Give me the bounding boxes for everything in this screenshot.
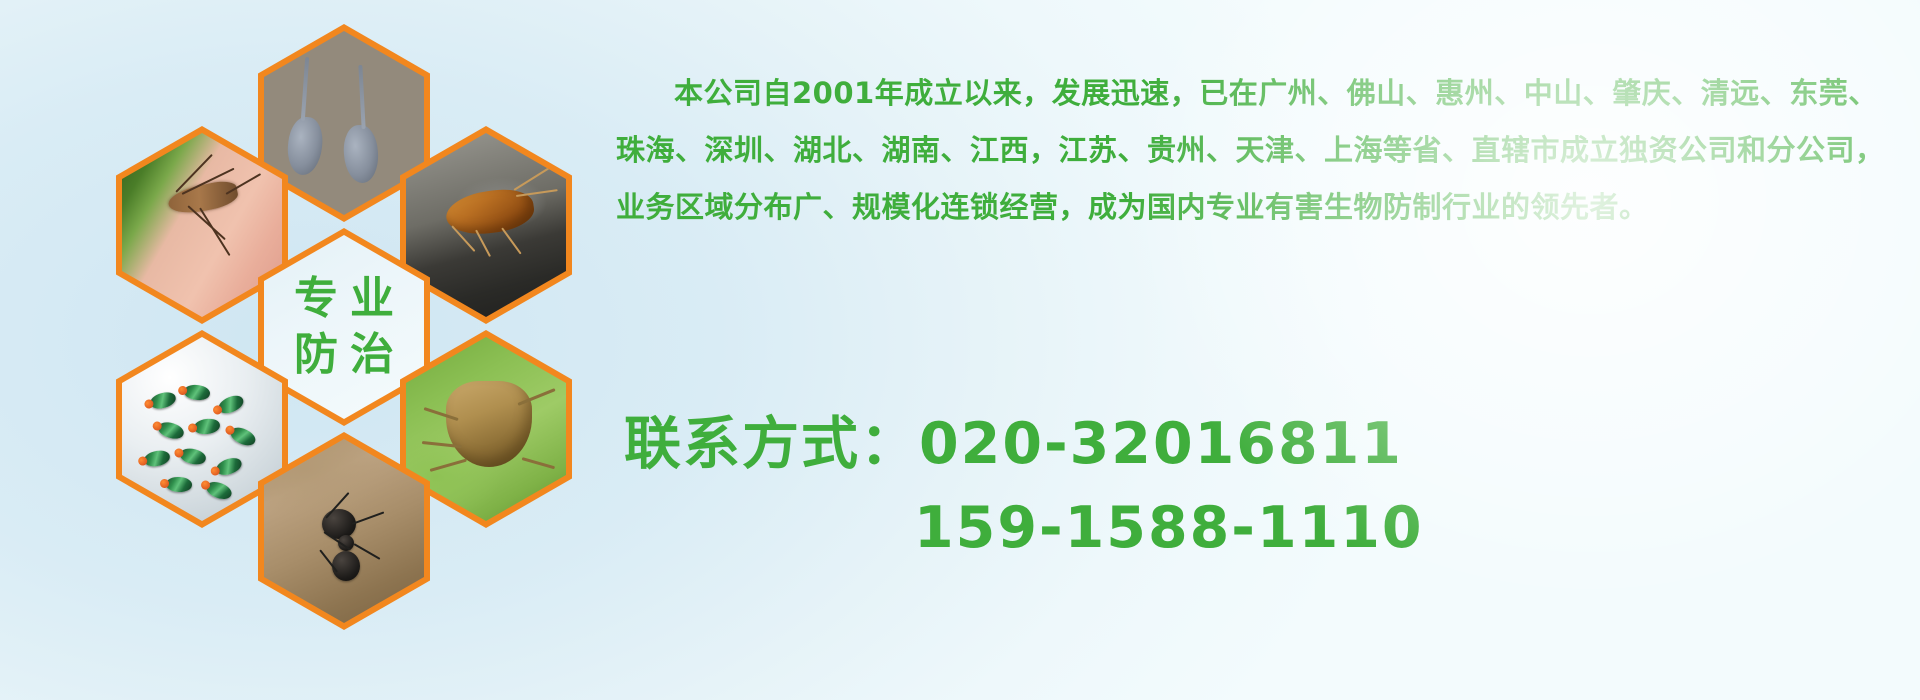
logo-line-2: 防治 [282, 332, 406, 378]
ant-photo-icon [264, 439, 424, 623]
contact-line-mobile[interactable]: 159-1588-1110 [624, 486, 1724, 570]
company-intro-paragraph: 本公司自2001年成立以来，发展迅速，已在广州、佛山、惠州、中山、肇庆、清远、东… [616, 65, 1906, 236]
cockroach-photo-icon [406, 133, 566, 317]
hexagon-cluster: 专业 防治 [96, 16, 596, 556]
contact-line-landline[interactable]: 联系方式：020-32016811 [624, 402, 1724, 486]
promo-banner: 专业 防治 [0, 0, 1920, 700]
logo-line-1: 专业 [282, 276, 406, 322]
stinkbug-photo-icon [406, 337, 566, 521]
contact-block: 联系方式：020-32016811 159-1588-1110 [624, 402, 1724, 570]
